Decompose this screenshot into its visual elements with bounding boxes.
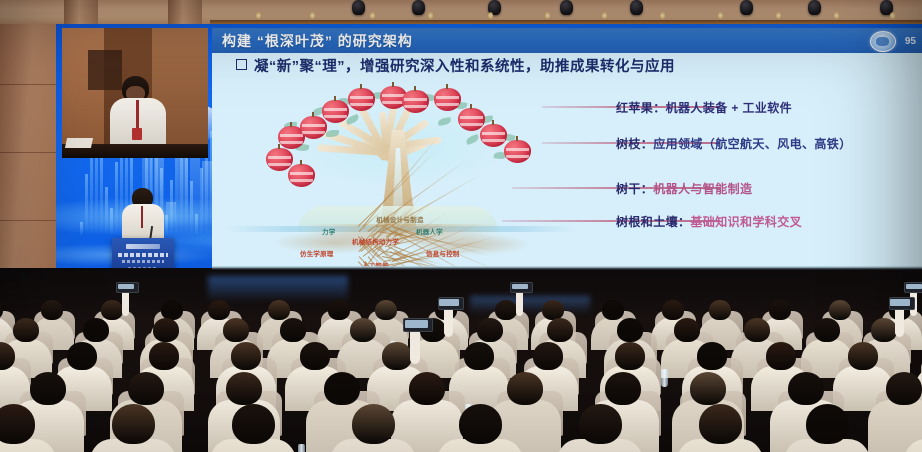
apple-label xyxy=(506,144,529,158)
research-framework-tree: 机械设计与制造 力学机器人学机械结构动力学仿生学原理信息与控制人工智能 xyxy=(226,86,576,268)
downlight-icon xyxy=(718,12,723,19)
phone-screen xyxy=(405,320,428,328)
audience-head xyxy=(709,300,731,320)
audience-head xyxy=(459,404,502,444)
tree-apple xyxy=(348,88,375,111)
audience-head xyxy=(690,372,726,405)
spotlight-icon xyxy=(808,0,821,15)
audience-head xyxy=(112,404,155,444)
water-bottle xyxy=(661,369,668,387)
audience-head xyxy=(674,318,700,342)
badge xyxy=(132,128,142,140)
audience-head xyxy=(507,372,543,405)
audience-head xyxy=(324,372,360,405)
audience-head xyxy=(328,300,350,320)
downlight-icon xyxy=(428,12,433,19)
projected-slide: 构建 “根深叶茂” 的研究架构 95 凝“新”聚“理”，增强研究深入性和系统性，… xyxy=(212,28,922,268)
spotlight-icon xyxy=(740,0,753,15)
audience-head xyxy=(67,342,97,370)
annotation-trunk: 树干：机器人与智能制造 xyxy=(616,180,752,197)
slide-bullet: 凝“新”聚“理”，增强研究深入性和系统性，助推成果转化与应用 xyxy=(236,58,908,78)
audience-head xyxy=(382,342,412,370)
audience-head xyxy=(153,318,179,342)
audience-head xyxy=(814,318,840,342)
audience-head xyxy=(464,342,494,370)
water-bottle xyxy=(298,444,305,452)
downlight-icon xyxy=(488,12,493,19)
audience-head xyxy=(375,300,397,320)
audience-head xyxy=(268,300,290,320)
audience-head xyxy=(232,404,275,444)
phone-screen xyxy=(439,299,459,306)
audience-head xyxy=(0,404,35,444)
audience-head xyxy=(352,404,395,444)
downlight-icon xyxy=(602,12,607,19)
audience-head xyxy=(886,372,922,405)
audience-head xyxy=(477,318,503,342)
audience-head xyxy=(350,318,376,342)
tree-apple xyxy=(288,164,315,187)
downlight-icon xyxy=(256,12,261,19)
tree-apple xyxy=(322,100,349,123)
audience-head xyxy=(495,300,517,320)
audience-head xyxy=(226,372,262,405)
audience-head xyxy=(766,342,796,370)
downlight-icon xyxy=(370,12,375,19)
audience-head xyxy=(41,300,63,320)
speaker-lanyard xyxy=(141,206,143,228)
tree-apple xyxy=(266,148,293,171)
audience-head xyxy=(208,300,230,320)
apple-label xyxy=(302,120,325,134)
audience-head xyxy=(602,300,624,320)
tree-apple xyxy=(300,116,327,139)
audience-head xyxy=(30,372,66,405)
audience-head xyxy=(699,404,742,444)
audience-head xyxy=(128,372,164,405)
tree-apple xyxy=(480,124,507,147)
apple-label xyxy=(280,130,303,144)
downlight-icon xyxy=(660,12,665,19)
conference-emblem-icon xyxy=(870,31,896,52)
audience-head xyxy=(744,318,770,342)
audience-head xyxy=(101,300,123,320)
podium-text-line xyxy=(122,260,164,263)
audience-head xyxy=(149,342,179,370)
audience-head xyxy=(662,300,684,320)
apple-label xyxy=(324,104,347,118)
audience-head xyxy=(533,342,563,370)
phone-screen xyxy=(890,299,910,306)
phone-screen xyxy=(906,284,922,290)
slide-title: 构建 “根深叶茂” 的研究架构 xyxy=(222,31,413,51)
audience-head xyxy=(829,300,851,320)
apple-label xyxy=(460,112,483,126)
phone-screen xyxy=(512,284,529,290)
presenter-video-inset[interactable] xyxy=(62,28,208,158)
tree-apple xyxy=(402,90,429,113)
tree-apple xyxy=(434,88,461,111)
screenshot-root: 构建 “根深叶茂” 的研究架构 95 凝“新”聚“理”，增强研究深入性和系统性，… xyxy=(0,0,922,452)
audience-head xyxy=(605,372,641,405)
audience-head xyxy=(806,404,849,444)
apple-label xyxy=(436,92,459,106)
spotlight-icon xyxy=(352,0,365,15)
spotlight-icon xyxy=(630,0,643,15)
annotation-roots: 树根和土壤：基础知识和学科交叉 xyxy=(616,213,802,230)
audience-head xyxy=(547,318,573,342)
slide-bullet-text: 凝“新”聚“理”，增强研究深入性和系统性，助推成果转化与应用 xyxy=(254,59,675,75)
hall-side-wall xyxy=(0,24,62,294)
audience-head xyxy=(13,318,39,342)
downlight-icon xyxy=(310,12,315,19)
phone-screen xyxy=(118,284,135,290)
soil-label: 机器人学 xyxy=(416,226,443,236)
soil-label: 仿生学原理 xyxy=(300,248,334,258)
apple-label xyxy=(404,94,427,108)
audience-head xyxy=(788,372,824,405)
soil-label: 信息与控制 xyxy=(426,248,460,258)
audience-head xyxy=(231,342,261,370)
audience-head xyxy=(617,318,643,342)
downlight-icon xyxy=(545,12,550,19)
screen-bottom-edge xyxy=(212,266,922,270)
audience-head xyxy=(769,300,791,320)
podium-logo xyxy=(126,244,160,249)
tree-apple xyxy=(504,140,531,163)
audience-head xyxy=(223,318,249,342)
audience-head xyxy=(579,404,622,444)
soil-label: 力学 xyxy=(322,226,335,236)
annotation-apples: 红苹果：机器人装备 + 工业软件 xyxy=(616,99,792,116)
downlight-icon xyxy=(834,12,839,19)
annotation-branches: 树枝：应用领域（航空航天、风电、高铁） xyxy=(616,135,852,152)
bullet-square-icon xyxy=(236,59,247,70)
spotlight-icon xyxy=(412,0,425,15)
downlight-icon xyxy=(776,12,781,19)
audience-head xyxy=(300,342,330,370)
soil-label: 机械结构动力学 xyxy=(352,236,399,246)
audience-head xyxy=(83,318,109,342)
audience-head xyxy=(697,342,727,370)
audience-head xyxy=(615,342,645,370)
spotlight-icon xyxy=(560,0,573,15)
audience-head xyxy=(409,372,445,405)
slide-page-number: 95 xyxy=(905,36,916,47)
lanyard xyxy=(136,100,139,130)
audience-head xyxy=(871,318,897,342)
raised-arm xyxy=(410,326,420,364)
downlight-icon xyxy=(890,12,895,19)
podium-text-line xyxy=(118,253,168,257)
audience-head xyxy=(280,318,306,342)
apple-label xyxy=(482,128,505,142)
apple-label xyxy=(268,152,291,166)
audience-head xyxy=(848,342,878,370)
apple-label xyxy=(350,92,373,106)
apple-label xyxy=(290,168,313,182)
tree-apple xyxy=(458,108,485,131)
